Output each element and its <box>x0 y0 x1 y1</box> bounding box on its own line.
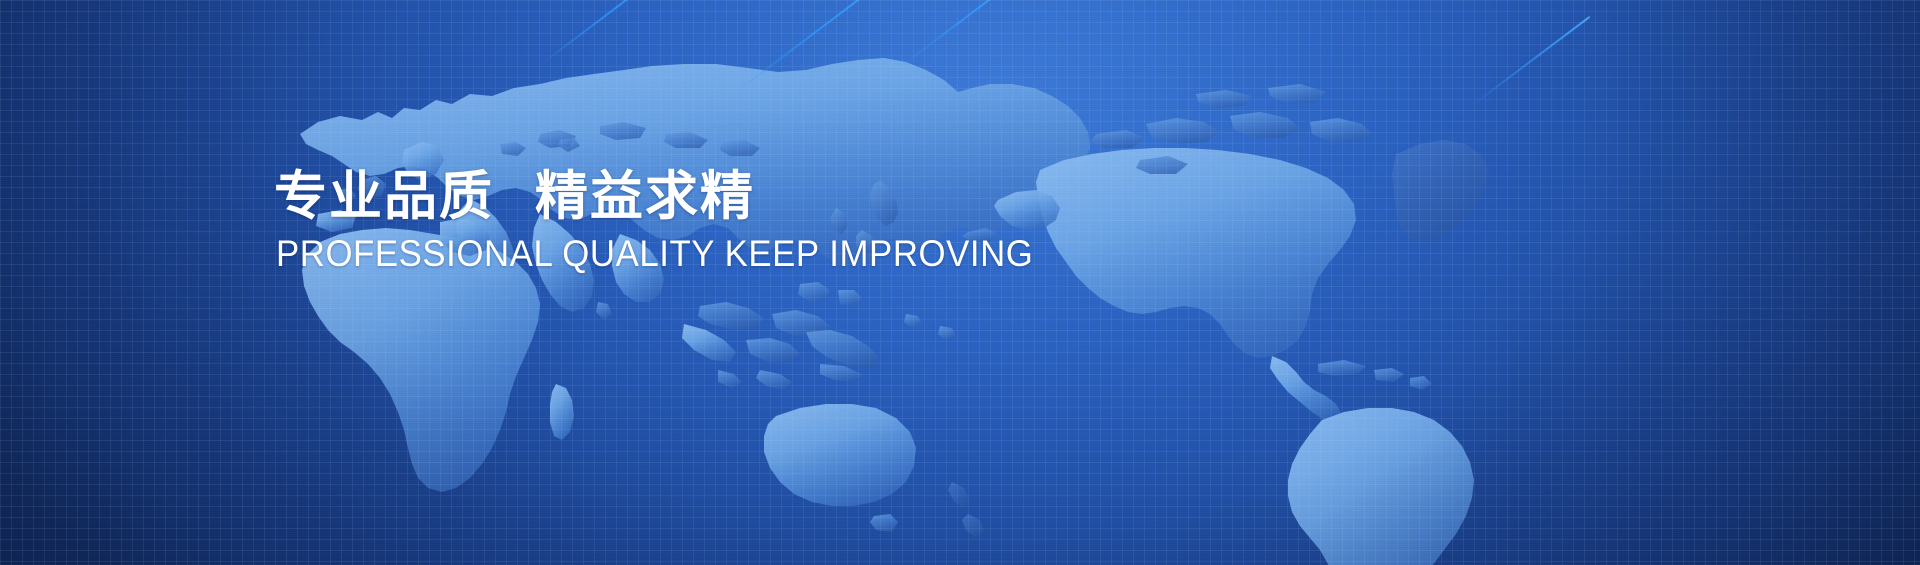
banner-subheadline-english: PROFESSIONAL QUALITY KEEP IMPROVING <box>276 234 1120 275</box>
banner-copy-block: 专业品质 精益求精 PROFESSIONAL QUALITY KEEP IMPR… <box>274 168 1174 275</box>
hero-banner: 专业品质 精益求精 PROFESSIONAL QUALITY KEEP IMPR… <box>0 0 1920 565</box>
banner-headline-chinese: 专业品质 精益求精 <box>274 168 1174 225</box>
map-landmasses <box>300 58 1488 565</box>
world-map-graphic <box>0 0 1920 565</box>
